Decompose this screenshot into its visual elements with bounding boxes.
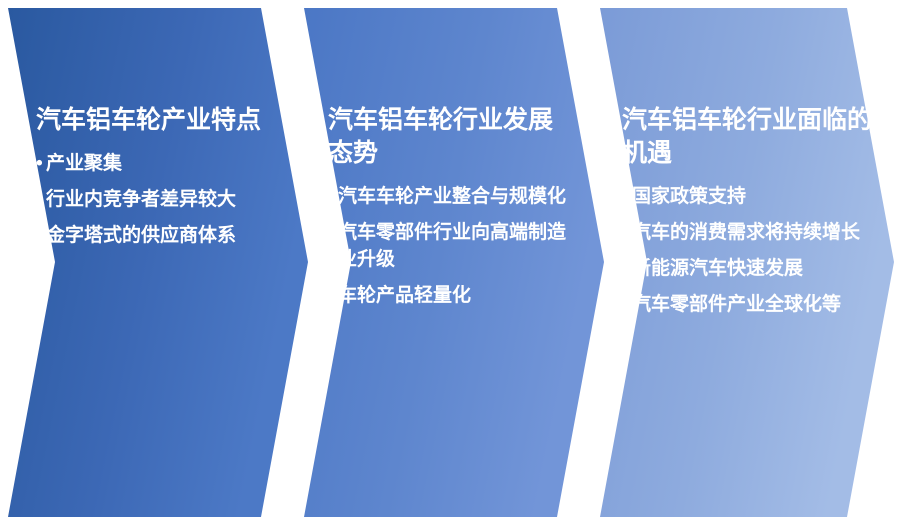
chevron-title-2: 汽车铝车轮行业发展态势 bbox=[328, 104, 568, 170]
bullet-text: 金字塔式的供应商体系 bbox=[46, 225, 236, 246]
diagram-canvas: 汽车铝车轮产业特点 •产业聚集 •行业内竞争者差异较大 •金字塔式的供应商体系 … bbox=[0, 0, 899, 525]
bullet-dot: • bbox=[622, 220, 629, 247]
bullet-text: 新能源汽车快速发展 bbox=[632, 258, 803, 279]
bullet-dot: • bbox=[328, 220, 335, 247]
bullet-item: •国家政策支持 bbox=[622, 184, 876, 211]
bullet-item: •汽车车轮产业整合与规模化 bbox=[328, 184, 568, 211]
bullet-dot: • bbox=[622, 184, 629, 211]
bullet-item: •汽车零部件产业全球化等 bbox=[622, 292, 876, 319]
chevron-step-2[interactable]: 汽车铝车轮行业发展态势 •汽车车轮产业整合与规模化 •汽车零部件行业向高端制造业… bbox=[304, 8, 604, 517]
bullet-dot: • bbox=[328, 184, 335, 211]
chevron-title-1: 汽车铝车轮产业特点 bbox=[36, 104, 274, 137]
bullet-text: 车轮产品轻量化 bbox=[338, 285, 471, 306]
bullet-item: •产业聚集 bbox=[36, 151, 274, 178]
chevron-step-1[interactable]: 汽车铝车轮产业特点 •产业聚集 •行业内竞争者差异较大 •金字塔式的供应商体系 bbox=[8, 8, 308, 517]
chevron-bullets-2: •汽车车轮产业整合与规模化 •汽车零部件行业向高端制造业升级 •车轮产品轻量化 bbox=[328, 184, 568, 310]
bullet-dot: • bbox=[622, 256, 629, 283]
bullet-text: 行业内竞争者差异较大 bbox=[46, 189, 236, 210]
bullet-dot: • bbox=[36, 151, 43, 178]
bullet-text: 汽车零部件行业向高端制造业升级 bbox=[338, 222, 566, 270]
bullet-text: 汽车的消费需求将持续增长 bbox=[632, 222, 860, 243]
bullet-item: •汽车零部件行业向高端制造业升级 bbox=[328, 220, 568, 274]
bullet-item: •新能源汽车快速发展 bbox=[622, 256, 876, 283]
chevron-bullets-1: •产业聚集 •行业内竞争者差异较大 •金字塔式的供应商体系 bbox=[36, 151, 274, 250]
bullet-item: •车轮产品轻量化 bbox=[328, 283, 568, 310]
bullet-dot: • bbox=[622, 292, 629, 319]
bullet-text: 国家政策支持 bbox=[632, 186, 746, 207]
bullet-dot: • bbox=[36, 223, 43, 250]
chevron-content-2: 汽车铝车轮行业发展态势 •汽车车轮产业整合与规模化 •汽车零部件行业向高端制造业… bbox=[304, 8, 604, 517]
chevron-bullets-3: •国家政策支持 •汽车的消费需求将持续增长 •新能源汽车快速发展 •汽车零部件产… bbox=[622, 184, 876, 319]
chevron-step-3[interactable]: 汽车铝车轮行业面临的机遇 •国家政策支持 •汽车的消费需求将持续增长 •新能源汽… bbox=[600, 8, 894, 517]
chevron-content-1: 汽车铝车轮产业特点 •产业聚集 •行业内竞争者差异较大 •金字塔式的供应商体系 bbox=[8, 8, 308, 517]
bullet-dot: • bbox=[36, 187, 43, 214]
bullet-dot: • bbox=[328, 283, 335, 310]
bullet-text: 汽车车轮产业整合与规模化 bbox=[338, 186, 566, 207]
bullet-text: 产业聚集 bbox=[46, 153, 122, 174]
bullet-item: •金字塔式的供应商体系 bbox=[36, 223, 274, 250]
bullet-item: •汽车的消费需求将持续增长 bbox=[622, 220, 876, 247]
bullet-item: •行业内竞争者差异较大 bbox=[36, 187, 274, 214]
chevron-content-3: 汽车铝车轮行业面临的机遇 •国家政策支持 •汽车的消费需求将持续增长 •新能源汽… bbox=[600, 8, 894, 517]
bullet-text: 汽车零部件产业全球化等 bbox=[632, 294, 841, 315]
chevron-title-3: 汽车铝车轮行业面临的机遇 bbox=[622, 104, 876, 170]
